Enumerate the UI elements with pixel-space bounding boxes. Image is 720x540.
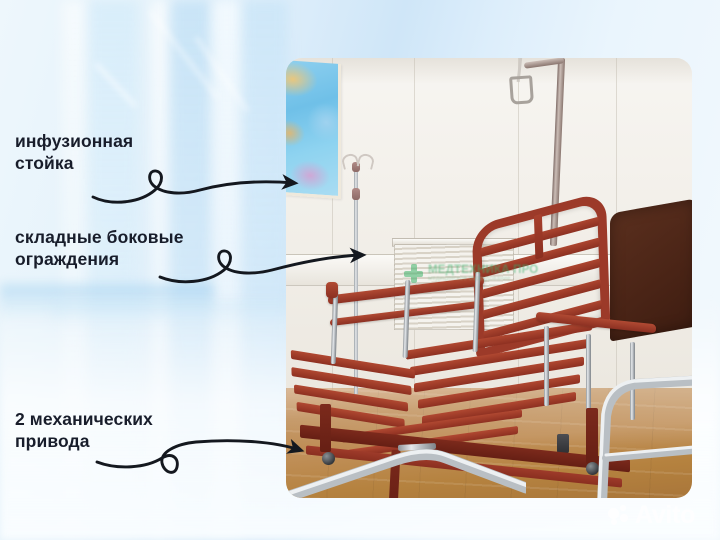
trapeze-handle: [509, 75, 534, 105]
product-photo: МЕДТЕХНИКА ПРО медицинское оборудование: [286, 58, 692, 498]
chrome-walker-right: [584, 354, 692, 498]
chrome-walker-left: [286, 410, 526, 498]
side-rail-post: [544, 326, 549, 406]
side-rail-end-cap: [326, 282, 338, 298]
wall-map-poster: [286, 60, 341, 199]
backrest-center-post: [534, 214, 544, 260]
photo-watermark-subtitle: медицинское оборудование: [428, 276, 538, 282]
listing-image-canvas: МЕДТЕХНИКА ПРО медицинское оборудование …: [0, 0, 720, 540]
photo-watermark-title: МЕДТЕХНИКА ПРО: [428, 264, 538, 276]
wall-panel-seam: [414, 58, 415, 388]
green-cross-icon: [404, 264, 423, 283]
chrome-walker-svg: [584, 354, 692, 498]
chrome-walker-svg: [286, 410, 526, 498]
avito-dots-icon: [608, 505, 630, 527]
product-photo-scene: МЕДТЕХНИКА ПРО медицинское оборудование: [286, 58, 692, 498]
avito-wordmark: Avito: [635, 503, 695, 528]
photo-watermark: МЕДТЕХНИКА ПРО медицинское оборудование: [404, 264, 538, 283]
iv-stand-collar: [352, 188, 360, 200]
annotation-label-mechanical-drives: 2 механических привода: [15, 408, 153, 453]
wall-top-shadow: [286, 58, 692, 84]
avito-watermark: Avito: [608, 503, 695, 528]
annotation-label-infusion-stand: инфузионная стойка: [15, 130, 133, 175]
annotation-label-folding-side-rails: складные боковые ограждения: [15, 226, 184, 271]
photo-watermark-text: МЕДТЕХНИКА ПРО медицинское оборудование: [428, 264, 538, 282]
